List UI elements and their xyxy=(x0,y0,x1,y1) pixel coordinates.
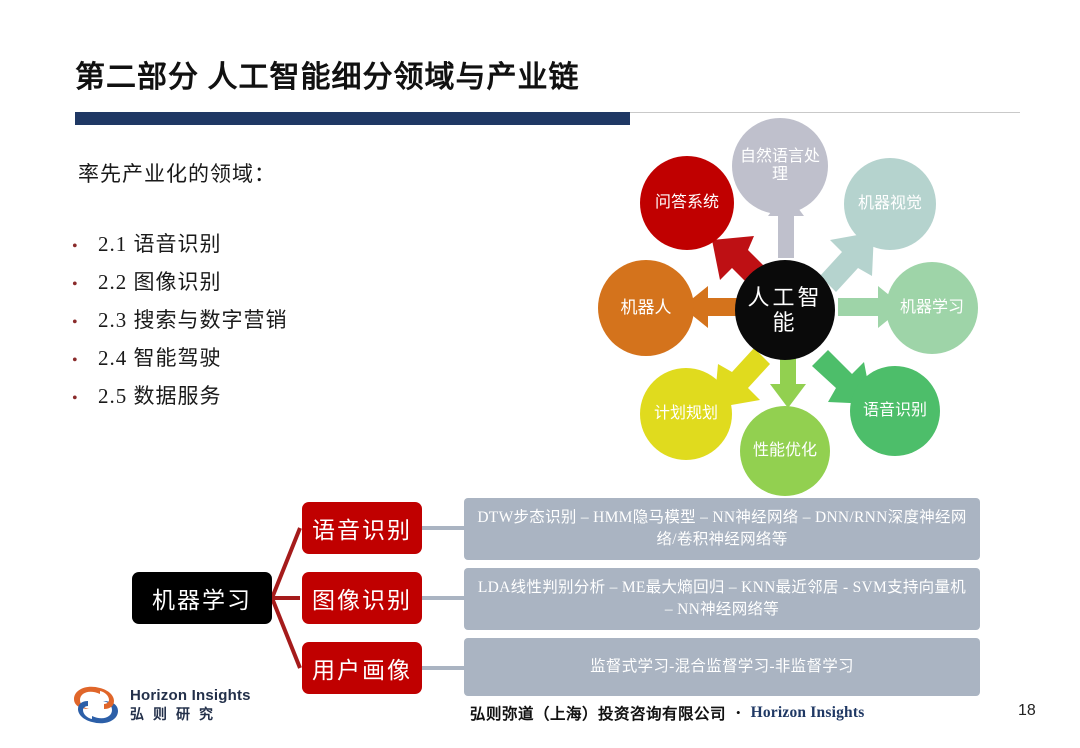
tree-branch-label: 图像识别 xyxy=(312,581,412,615)
page-number: 18 xyxy=(1018,702,1036,720)
bullet-dot-icon: • xyxy=(72,391,98,407)
tree-branch-label: 用户画像 xyxy=(312,651,412,685)
footer-company-name: 弘则弥道（上海）投资咨询有限公司 xyxy=(470,702,726,724)
tree-detail-text: LDA线性判别分析 – ME最大熵回归 – KNN最近邻居 - SVM支持向量机… xyxy=(476,577,968,622)
topic-bullet-list: • 2.1 语音识别 • 2.2 图像识别 • 2.3 搜索与数字营销 • 2.… xyxy=(72,228,452,418)
diagram-node-label: 机器视觉 xyxy=(850,195,930,213)
tree-detail-speech-recognition: DTW步态识别 – HMM隐马模型 – NN神经网络 – DNN/RNN深度神经… xyxy=(464,498,980,560)
list-item-label: 2.1 语音识别 xyxy=(98,228,222,258)
diagram-center-label: 人工智能 xyxy=(735,285,835,336)
diagram-node-label: 机器学习 xyxy=(892,299,972,317)
tree-branch-user-profiling[interactable]: 用户画像 xyxy=(302,642,422,694)
diagram-node-center-ai[interactable]: 人工智能 xyxy=(735,260,835,360)
logo-wordmark: Horizon Insights 弘则研究 xyxy=(130,687,251,723)
tree-root-label: 机器学习 xyxy=(152,581,252,615)
machine-learning-tree: 机器学习 语音识别 图像识别 用户画像 DTW步态识别 – HMM隐马模型 – … xyxy=(120,490,1020,700)
diagram-node-label: 计划规划 xyxy=(646,405,726,423)
horizon-insights-logo-icon xyxy=(70,682,122,728)
page-title: 第二部分 人工智能细分领域与产业链 xyxy=(75,52,580,96)
tree-detail-text: DTW步态识别 – HMM隐马模型 – NN神经网络 – DNN/RNN深度神经… xyxy=(476,507,968,552)
diagram-node-robot[interactable]: 机器人 xyxy=(598,260,694,356)
diagram-node-perf[interactable]: 性能优化 xyxy=(740,406,830,496)
bullet-dot-icon: • xyxy=(72,353,98,369)
tree-detail-image-recognition: LDA线性判别分析 – ME最大熵回归 – KNN最近邻居 - SVM支持向量机… xyxy=(464,568,980,630)
list-item: • 2.4 智能驾驶 xyxy=(72,342,452,380)
list-item-label: 2.3 搜索与数字营销 xyxy=(98,304,288,334)
diagram-node-nlp[interactable]: 自然语言处理 xyxy=(732,118,828,214)
diagram-node-label: 机器人 xyxy=(613,298,680,318)
diagram-node-ml[interactable]: 机器学习 xyxy=(886,262,978,354)
diagram-node-qa[interactable]: 问答系统 xyxy=(640,156,734,250)
list-item: • 2.2 图像识别 xyxy=(72,266,452,304)
tree-root-machine-learning[interactable]: 机器学习 xyxy=(132,572,272,624)
list-item: • 2.3 搜索与数字营销 xyxy=(72,304,452,342)
diagram-node-asr[interactable]: 语音识别 xyxy=(850,366,940,456)
bullet-dot-icon: • xyxy=(72,315,98,331)
ai-domain-circle-diagram: 自然语言处理 问答系统 机器视觉 机器人 机器学习 计划规划 性能优化 语音识别… xyxy=(590,118,1020,498)
bullet-dot-icon: • xyxy=(72,277,98,293)
footer-brand-name: Horizon Insights xyxy=(751,704,865,722)
diagram-node-label: 自然语言处理 xyxy=(732,148,828,185)
diagram-node-label: 问答系统 xyxy=(647,194,727,212)
footer-separator-dot: • xyxy=(736,705,741,721)
list-item: • 2.5 数据服务 xyxy=(72,380,452,418)
diagram-node-label: 语音识别 xyxy=(855,402,935,420)
list-item: • 2.1 语音识别 xyxy=(72,228,452,266)
logo-chinese-name: 弘则研究 xyxy=(130,706,251,724)
tree-detail-user-profiling: 监督式学习-混合监督学习-非监督学习 xyxy=(464,638,980,696)
footer-logo: Horizon Insights 弘则研究 xyxy=(70,682,251,728)
diagram-node-plan[interactable]: 计划规划 xyxy=(640,368,732,460)
tree-branch-speech-recognition[interactable]: 语音识别 xyxy=(302,502,422,554)
tree-detail-text: 监督式学习-混合监督学习-非监督学习 xyxy=(590,656,854,678)
logo-english-name: Horizon Insights xyxy=(130,687,251,706)
list-item-label: 2.5 数据服务 xyxy=(98,380,222,410)
tree-branch-image-recognition[interactable]: 图像识别 xyxy=(302,572,422,624)
tree-branch-label: 语音识别 xyxy=(312,511,412,545)
bullet-dot-icon: • xyxy=(72,239,98,255)
footer-attribution: 弘则弥道（上海）投资咨询有限公司 • Horizon Insights xyxy=(470,702,864,724)
diagram-node-label: 性能优化 xyxy=(745,442,825,460)
list-item-label: 2.4 智能驾驶 xyxy=(98,342,222,372)
list-item-label: 2.2 图像识别 xyxy=(98,266,222,296)
diagram-node-vision[interactable]: 机器视觉 xyxy=(844,158,936,250)
lead-in-text: 率先产业化的领域： xyxy=(78,158,276,188)
title-accent-bar xyxy=(75,112,630,125)
